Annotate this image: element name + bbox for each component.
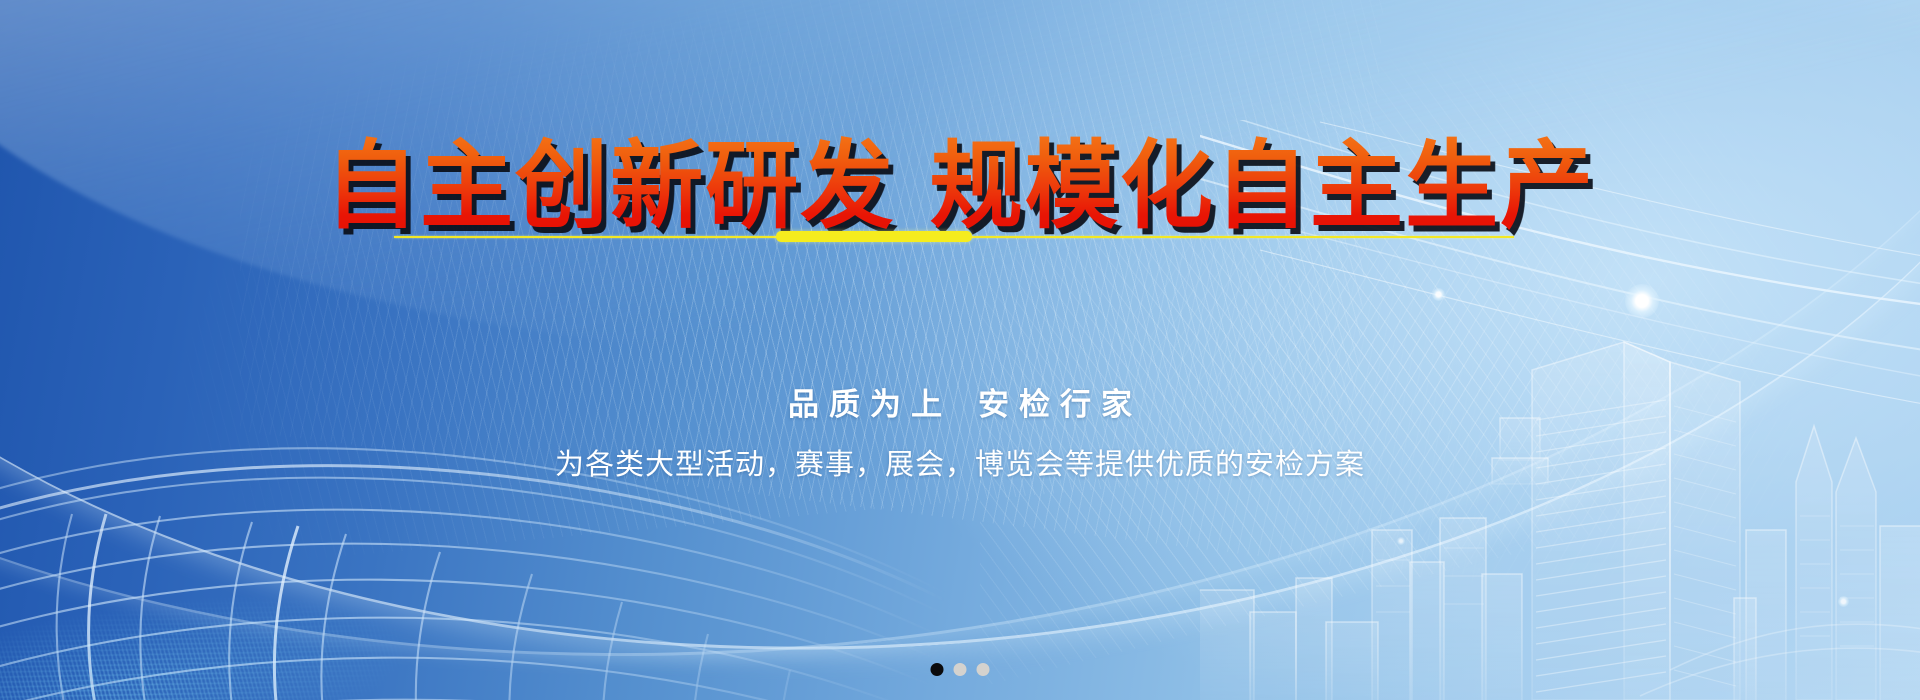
carousel-dot-3[interactable] [977, 663, 990, 676]
tagline: 品质为上安检行家 [0, 385, 1920, 425]
divider-thick-segment [776, 231, 972, 242]
tagline-part-2: 安检行家 [978, 387, 1142, 422]
carousel-dots[interactable] [931, 663, 990, 676]
hero-banner: 自主创新研发 规模化自主生产 品质为上安检行家 为各类大型活动，赛事，展会，博览… [0, 0, 1920, 700]
carousel-dot-1[interactable] [931, 663, 944, 676]
carousel-dot-2[interactable] [954, 663, 967, 676]
tagline-part-1: 品质为上 [788, 387, 952, 422]
banner-description: 为各类大型活动，赛事，展会，博览会等提供优质的安检方案 [0, 443, 1920, 487]
page-title: 自主创新研发 规模化自主生产 [29, 134, 1891, 238]
divider [394, 228, 1514, 246]
